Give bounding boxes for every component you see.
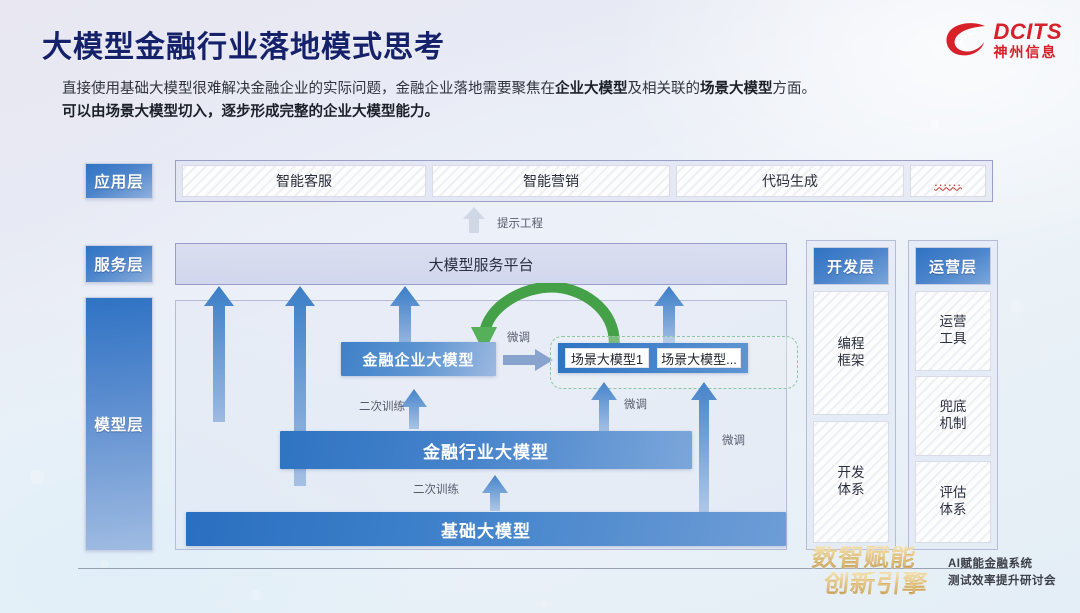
arrow-finetune-up-1 xyxy=(590,382,618,434)
subtitle-line-2: 可以由场景大模型切入，逐步形成完整的企业大模型能力。 xyxy=(62,101,1012,124)
app-card-customer-service[interactable]: 智能客服 xyxy=(182,165,426,197)
arrow-prompt-engineering xyxy=(462,206,486,234)
page-title: 大模型金融行业落地模式思考 xyxy=(42,22,445,66)
ops-cell-fallback-mechanism[interactable]: 兜底 机制 xyxy=(915,376,991,456)
ops-cell-2-text: 兜底 机制 xyxy=(940,399,967,433)
dev-cell-2-line1: 开发 xyxy=(838,465,865,480)
app-card-marketing[interactable]: 智能营销 xyxy=(432,165,670,197)
bokeh-speck xyxy=(540,600,548,608)
ops-cell-operation-tools[interactable]: 运营 工具 xyxy=(915,291,991,371)
scenario-card-1[interactable]: 场景大模型1 xyxy=(565,348,649,368)
page-subtitle: 直接使用基础大模型很难解决金融企业的实际问题，金融企业落地需要聚焦在企业大模型及… xyxy=(62,78,1012,125)
ops-cell-1-text: 运营 工具 xyxy=(940,314,967,348)
arrow-finetune-up-2 xyxy=(690,382,718,512)
dev-cell-2-text: 开发 体系 xyxy=(838,465,865,499)
ellipsis-icon: ...... xyxy=(934,174,962,189)
ops-cell-2-line1: 兜底 xyxy=(940,399,967,414)
ops-cell-1-line1: 运营 xyxy=(940,314,967,329)
ops-cell-2-line2: 机制 xyxy=(940,416,967,431)
brand-logo: DCITS 神州信息 xyxy=(944,20,1063,60)
scenario-card-2[interactable]: 场景大模型... xyxy=(657,348,741,368)
footer-event-line2: 测试效率提升研讨会 xyxy=(948,573,1056,590)
model-bar-enterprise: 金融企业大模型 xyxy=(341,342,496,376)
footer-brand-line2: 创新引擎 xyxy=(823,572,944,598)
logo-text: DCITS 神州信息 xyxy=(994,21,1063,59)
subtitle-segment: 及相关联的 xyxy=(628,81,701,97)
layer-label-model-text: 模型层 xyxy=(94,413,144,435)
ops-cell-3-line1: 评估 xyxy=(940,485,967,500)
ops-cell-1-line2: 工具 xyxy=(940,331,967,346)
arrow-label-prompt-engineering: 提示工程 xyxy=(497,215,543,231)
footer-event-text: AI赋能金融系统 测试效率提升研讨会 xyxy=(948,556,1056,591)
footer-event-line1: AI赋能金融系统 xyxy=(948,556,1056,573)
model-bar-industry: 金融行业大模型 xyxy=(280,431,692,469)
service-platform-bar: 大模型服务平台 xyxy=(175,243,787,285)
arrow-retrain-foundation-to-industry xyxy=(481,475,509,511)
ops-cell-3-line2: 体系 xyxy=(940,502,967,517)
arrow-label-retrain-1: 二次训练 xyxy=(359,398,405,414)
subtitle-segment: 方面。 xyxy=(773,81,817,97)
layer-label-service: 服务层 xyxy=(85,245,153,283)
dev-cell-2-line2: 体系 xyxy=(838,482,865,497)
logo-cn-label: 神州信息 xyxy=(994,45,1063,59)
dcits-swoosh-icon xyxy=(944,20,988,60)
slide-canvas: 大模型金融行业落地模式思考 直接使用基础大模型很难解决金融企业的实际问题，金融企… xyxy=(0,0,1080,613)
bokeh-speck xyxy=(30,470,44,484)
dev-column-header: 开发层 xyxy=(813,247,889,285)
bokeh-speck xyxy=(250,590,261,601)
bokeh-speck xyxy=(1010,300,1023,313)
dev-cell-1-line2: 框架 xyxy=(838,353,865,368)
arrow-up-model-to-service-3 xyxy=(389,286,421,348)
arrow-finetune-enterprise-to-scenario xyxy=(503,349,553,371)
footer-brand-logo: 数智赋能 创新引擎 xyxy=(812,546,942,599)
dev-cell-1-line1: 编程 xyxy=(838,336,865,351)
ops-cell-3-text: 评估 体系 xyxy=(940,485,967,519)
ops-column-header: 运营层 xyxy=(915,247,991,285)
footer-brand-line1: 数智赋能 xyxy=(811,546,944,572)
arrow-up-model-to-service-1 xyxy=(203,286,235,422)
dev-cell-programming-framework[interactable]: 编程 框架 xyxy=(813,291,889,415)
arrow-label-retrain-2: 二次训练 xyxy=(413,481,459,497)
model-bar-foundation: 基础大模型 xyxy=(186,512,786,546)
logo-en-label: DCITS xyxy=(994,21,1063,43)
subtitle-emphasis-enterprise: 企业大模型 xyxy=(555,81,628,97)
dev-cell-development-system[interactable]: 开发 体系 xyxy=(813,421,889,543)
dev-cell-1-text: 编程 框架 xyxy=(838,336,865,370)
arrow-label-finetune-2: 微调 xyxy=(624,396,647,412)
subtitle-segment: 直接使用基础大模型很难解决金融企业的实际问题，金融企业落地需要聚焦在 xyxy=(62,81,555,97)
ops-cell-evaluation-system[interactable]: 评估 体系 xyxy=(915,461,991,543)
layer-label-model: 模型层 xyxy=(85,297,153,551)
app-card-more[interactable]: ...... xyxy=(910,165,986,197)
scenario-holder: 场景大模型1 场景大模型... xyxy=(558,343,748,373)
app-card-code-generation[interactable]: 代码生成 xyxy=(676,165,904,197)
arrow-label-finetune-1: 微调 xyxy=(507,329,530,345)
subtitle-emphasis-scenario: 场景大模型 xyxy=(700,81,773,97)
layer-label-application: 应用层 xyxy=(85,163,153,199)
arrow-label-finetune-3: 微调 xyxy=(722,432,745,448)
